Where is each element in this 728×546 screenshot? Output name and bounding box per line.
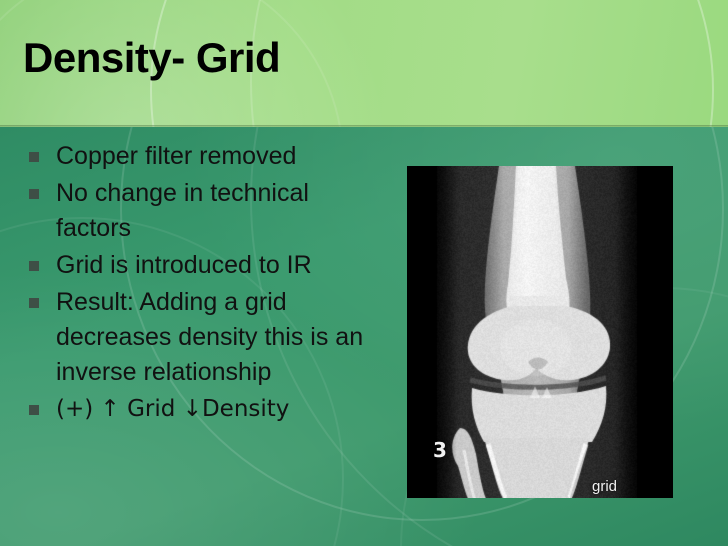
list-item-label: (+) ↑ Grid ↓Density <box>56 396 289 422</box>
xray-caption-label: grid <box>592 478 617 495</box>
list-item-label: Result: Adding a grid decreases density … <box>56 288 363 386</box>
slide: Density- Grid Copper filter removed No c… <box>0 0 728 546</box>
header-arc-decoration <box>250 0 728 127</box>
bullet-square-icon <box>29 261 39 271</box>
list-item: Copper filter removed <box>0 139 380 174</box>
bullet-square-icon <box>29 189 39 199</box>
bullet-list: Copper filter removed No change in techn… <box>0 127 380 429</box>
list-item-label: Copper filter removed <box>56 142 296 170</box>
page-title: Density- Grid <box>23 35 280 81</box>
knee-xray-image: 3 grid <box>407 166 673 498</box>
slide-header: Density- Grid <box>0 0 728 127</box>
list-item: Grid is introduced to IR <box>0 248 380 283</box>
bullet-square-icon <box>29 298 39 308</box>
bullet-square-icon <box>29 405 39 415</box>
bullet-square-icon <box>29 152 39 162</box>
list-item: (+) ↑ Grid ↓Density <box>0 392 380 427</box>
xray-marker-number: 3 <box>433 438 447 462</box>
list-item-label: Grid is introduced to IR <box>56 251 312 279</box>
list-item: Result: Adding a grid decreases density … <box>0 285 380 390</box>
slide-body: Copper filter removed No change in techn… <box>0 127 728 546</box>
list-item: No change in technical factors <box>0 176 380 246</box>
list-item-label: No change in technical factors <box>56 179 309 242</box>
